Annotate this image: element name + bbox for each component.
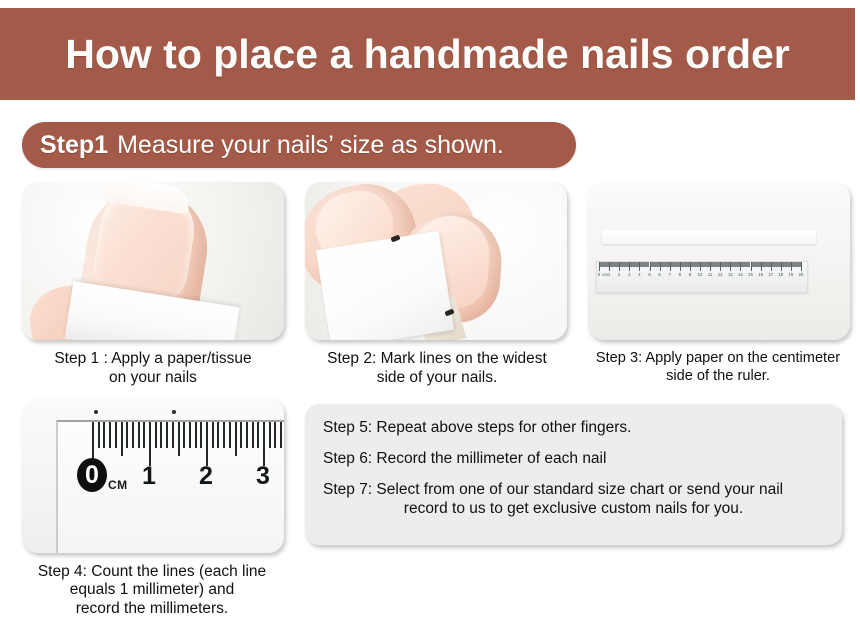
photo-card-step-3: 01234567891011121314151617181920cm — [588, 182, 850, 340]
ruler-closeup-photo: 123 0 CM — [22, 398, 284, 553]
ruler-zero-label: 0 — [85, 461, 99, 490]
page-title: How to place a handmade nails order — [65, 31, 790, 78]
step1-text: Measure your nails’ size as shown. — [117, 131, 504, 160]
ruler-unit-label: CM — [108, 478, 128, 492]
paper-over-ruler-photo: 01234567891011121314151617181920cm — [588, 182, 850, 340]
caption-step-1: Step 1 : Apply a paper/tissue on your na… — [8, 350, 298, 388]
small-ruler: 01234567891011121314151617181920cm — [596, 261, 808, 293]
caption-step-2-line1: Step 2: Mark lines on the widest — [292, 350, 582, 369]
header-banner: How to place a handmade nails order — [0, 8, 855, 100]
caption-step-4-line1: Step 4: Count the lines (each line — [6, 563, 298, 581]
photo-card-step-2 — [305, 182, 567, 340]
caption-step-4-line3: record the millimeters. — [6, 600, 298, 618]
hand-marking-paper-photo — [305, 182, 567, 340]
caption-step-4: Step 4: Count the lines (each line equal… — [6, 563, 298, 618]
caption-step-3-line1: Step 3: Apply paper on the centimeter — [572, 350, 860, 368]
infographic-page: How to place a handmade nails order Step… — [0, 0, 860, 631]
ruler-zero-marker: 0 — [77, 458, 107, 492]
step1-bar: Step1 Measure your nails’ size as shown. — [22, 122, 576, 168]
small-ruler-numbers: 01234567891011121314151617181920cm — [597, 272, 807, 282]
finger-with-paper-photo — [22, 182, 284, 340]
photo-card-step-1 — [22, 182, 284, 340]
caption-step-1-line1: Step 1 : Apply a paper/tissue — [8, 350, 298, 369]
steps-info-panel: Step 5: Repeat above steps for other fin… — [305, 404, 842, 545]
caption-step-3-line2: side of the ruler. — [572, 368, 860, 386]
photo-card-step-4: 123 0 CM — [22, 398, 284, 553]
caption-step-1-line2: on your nails — [8, 369, 298, 388]
caption-step-2-line2: side of your nails. — [292, 369, 582, 388]
paper-strip — [602, 230, 816, 244]
small-ruler-ticks — [597, 262, 807, 272]
info-line-step-7-line2: record to us to get exclusive custom nai… — [323, 499, 824, 519]
caption-step-4-line2: equals 1 millimeter) and — [6, 581, 298, 599]
caption-step-2: Step 2: Mark lines on the widest side of… — [292, 350, 582, 388]
caption-step-3: Step 3: Apply paper on the centimeter si… — [572, 350, 860, 386]
info-line-step-6: Step 6: Record the millimeter of each na… — [323, 449, 824, 469]
info-line-step-7: Step 7: Select from one of our standard … — [323, 480, 824, 520]
step1-label: Step1 — [40, 131, 108, 160]
info-line-step-7-line1: Step 7: Select from one of our standard … — [323, 481, 783, 498]
info-line-step-5: Step 5: Repeat above steps for other fin… — [323, 418, 824, 438]
